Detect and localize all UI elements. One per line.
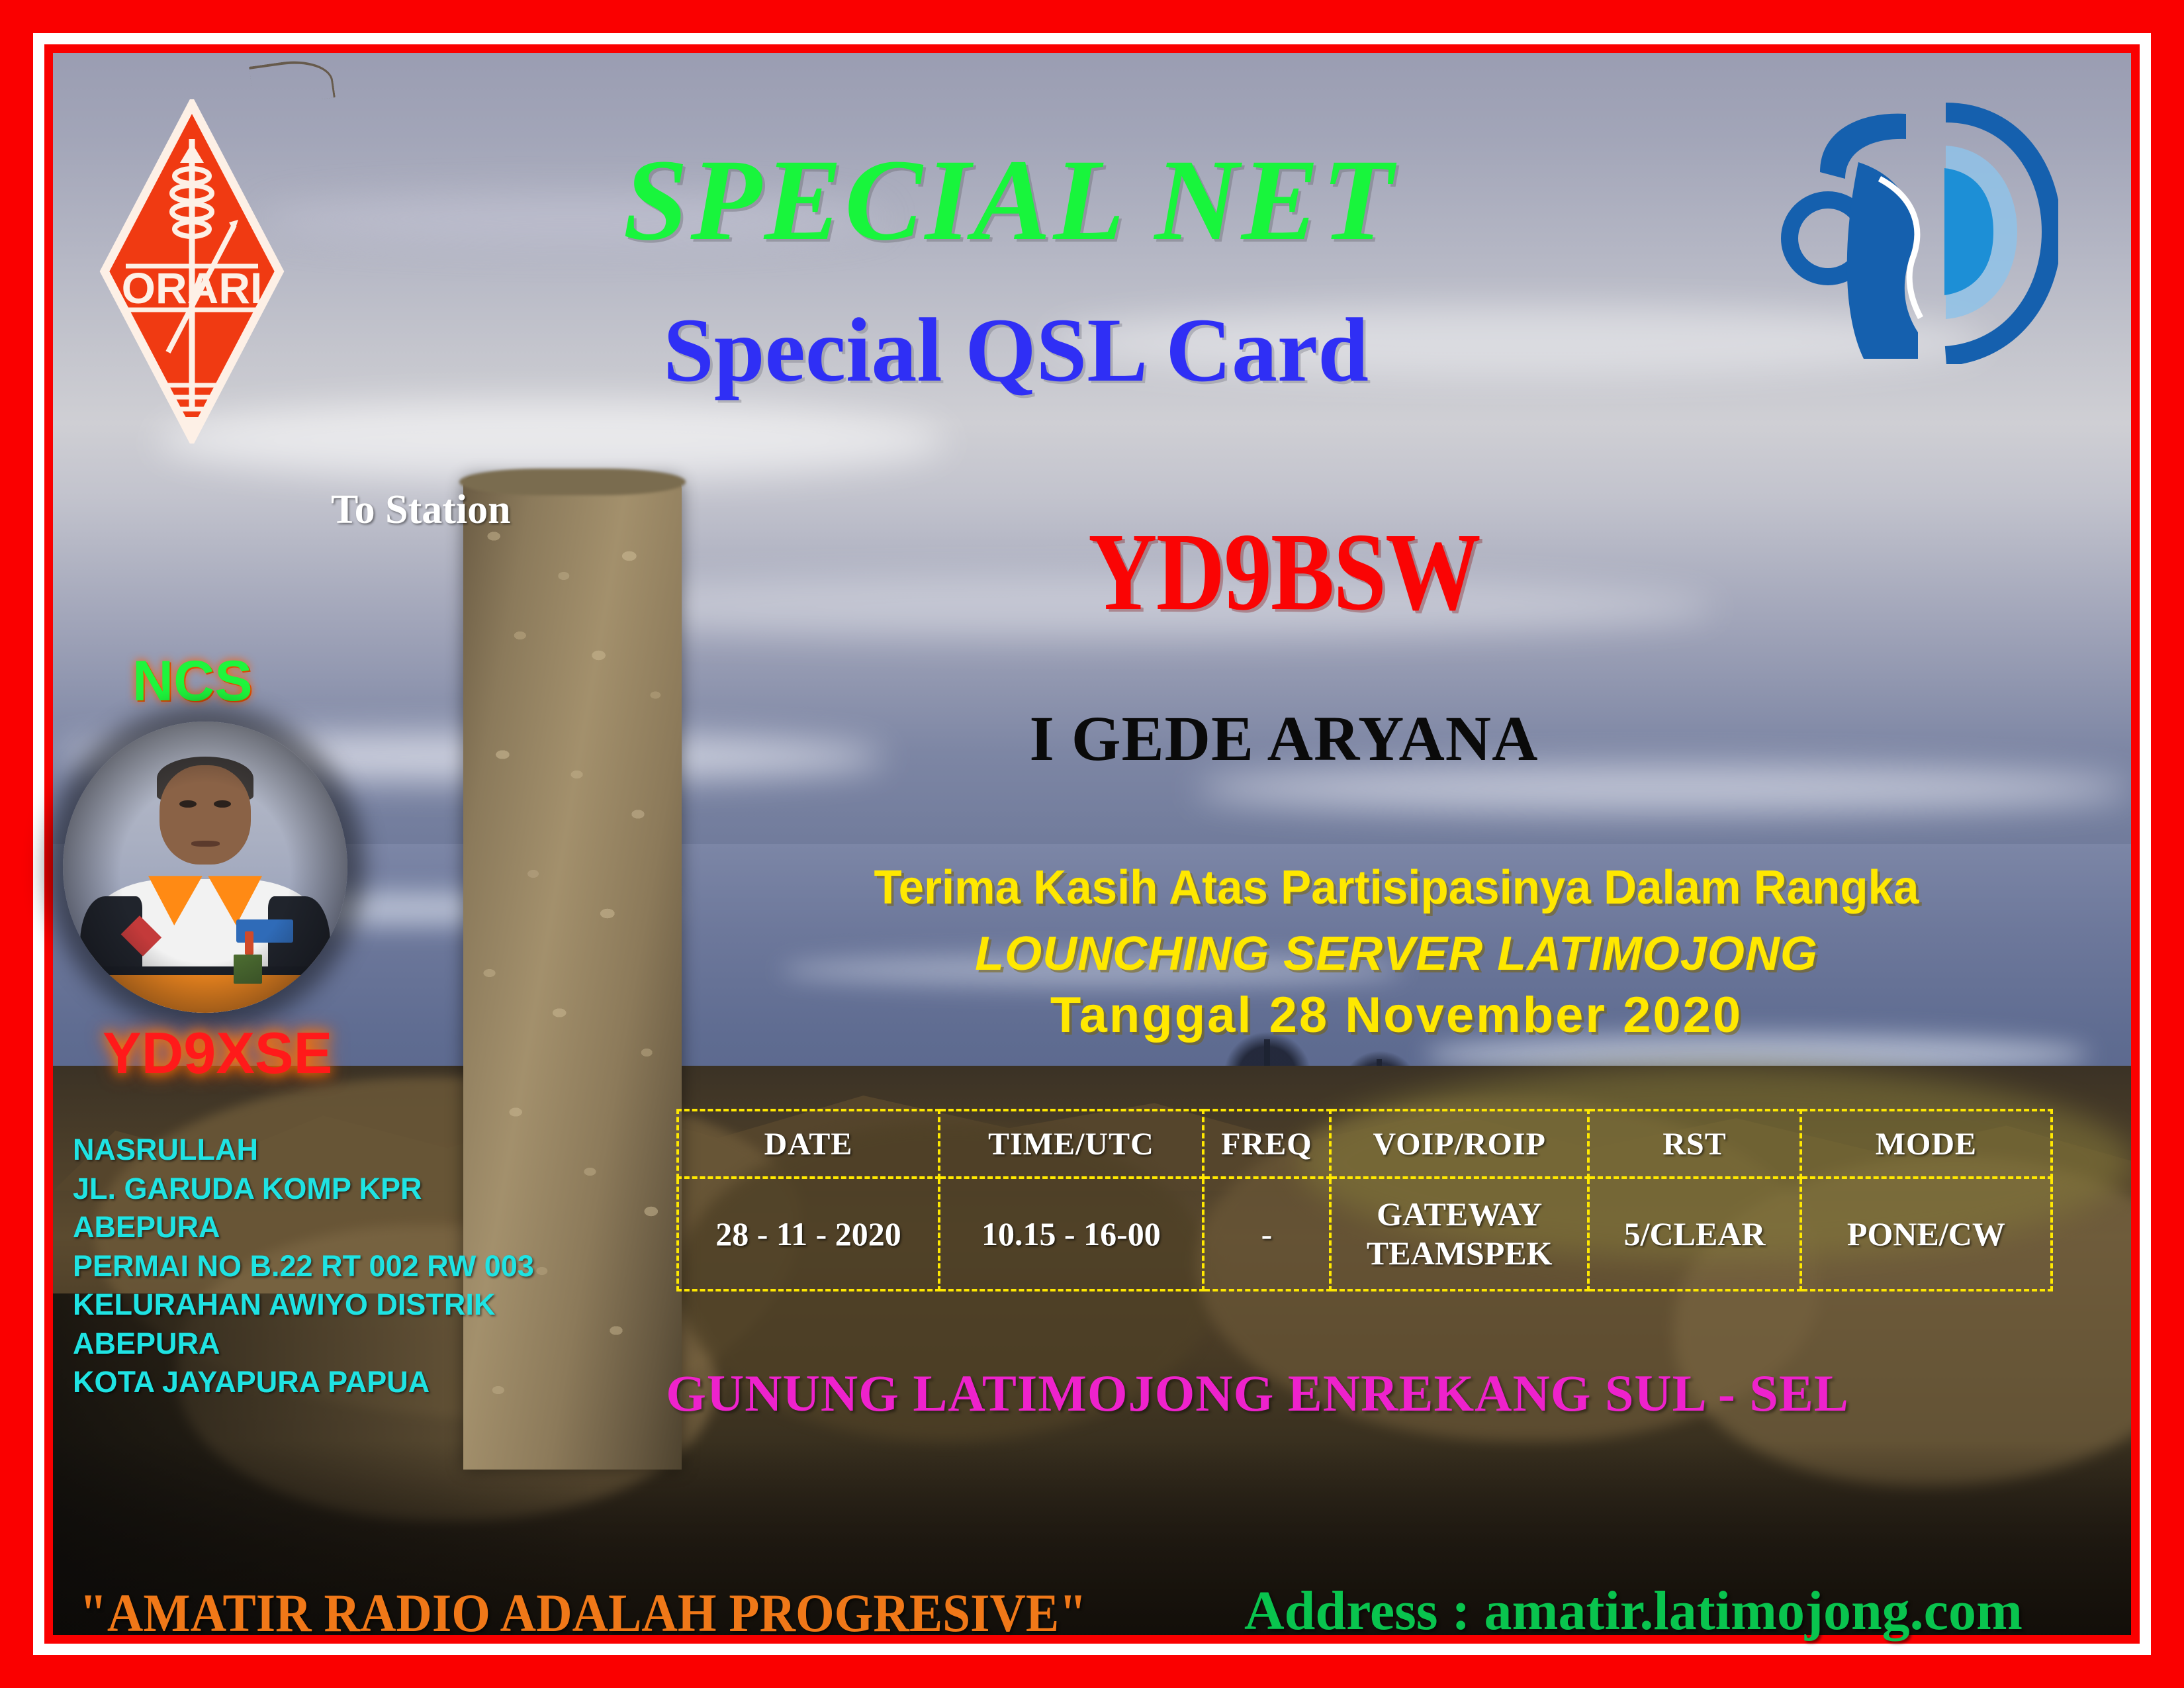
address-line: NASRULLAH bbox=[73, 1131, 534, 1170]
address-line: KELURAHAN AWIYO DISTRIK bbox=[73, 1286, 534, 1325]
address-line: ABEPURA bbox=[73, 1208, 534, 1247]
address-line: ABEPURA bbox=[73, 1325, 534, 1364]
operator-name: I GEDE ARYANA bbox=[887, 702, 1681, 775]
page-title-special-net: SPECIAL NET bbox=[0, 142, 2184, 259]
qso-cell-date: 28 - 11 - 2020 bbox=[678, 1178, 939, 1290]
page-title-special-net-text: SPECIAL NET bbox=[623, 142, 1395, 259]
event-location-line: GUNUNG LATIMOJONG ENREKANG SUL - SEL bbox=[596, 1364, 1919, 1423]
ncs-callsign: YD9XSE bbox=[103, 1019, 332, 1087]
qso-header-rst: RST bbox=[1588, 1110, 1800, 1178]
page-subtitle-qsl-card: Special QSL Card bbox=[0, 305, 2184, 396]
qso-header-mode: MODE bbox=[1801, 1110, 2052, 1178]
portrait-vignette bbox=[63, 722, 347, 1013]
qso-log-table: DATE TIME/UTC FREQ VOIP/ROIP RST MODE 28… bbox=[676, 1109, 2053, 1291]
qso-cell-rst: 5/CLEAR bbox=[1588, 1178, 1800, 1290]
qso-cell-voip-line1: GATEWAY bbox=[1332, 1195, 1587, 1234]
qso-cell-voip: GATEWAY TEAMSPEK bbox=[1330, 1178, 1588, 1290]
qso-table-header-row: DATE TIME/UTC FREQ VOIP/ROIP RST MODE bbox=[678, 1110, 2052, 1178]
ncs-label: NCS bbox=[132, 649, 253, 714]
address-line: KOTA JAYAPURA PAPUA bbox=[73, 1363, 534, 1402]
event-launch-line: LOUNCHING SERVER LATIMOJONG bbox=[715, 927, 2078, 981]
qso-header-freq: FREQ bbox=[1203, 1110, 1330, 1178]
to-station-label: To Station bbox=[331, 487, 511, 534]
address-line: PERMAI NO B.22 RT 002 RW 003 bbox=[73, 1247, 534, 1286]
station-callsign: YD9BSW bbox=[893, 516, 1674, 628]
qso-header-time: TIME/UTC bbox=[939, 1110, 1203, 1178]
qso-cell-mode: PONE/CW bbox=[1801, 1178, 2052, 1290]
address-line: JL. GARUDA KOMP KPR bbox=[73, 1170, 534, 1209]
qso-cell-freq: - bbox=[1203, 1178, 1330, 1290]
footer-address: Address : amatir.latimojong.com bbox=[1244, 1579, 2023, 1643]
qso-table-row: 28 - 11 - 2020 10.15 - 16-00 - GATEWAY T… bbox=[678, 1178, 2052, 1290]
ncs-address-block: NASRULLAH JL. GARUDA KOMP KPR ABEPURA PE… bbox=[73, 1131, 534, 1402]
event-thanks-line: Terima Kasih Atas Partisipasinya Dalam R… bbox=[742, 861, 2051, 915]
qso-header-date: DATE bbox=[678, 1110, 939, 1178]
ncs-operator-portrait bbox=[63, 722, 347, 1013]
qso-cell-time: 10.15 - 16-00 bbox=[939, 1178, 1203, 1290]
qsl-card: ORARI SPECIAL NET Special QSL Card To St… bbox=[0, 0, 2184, 1688]
event-date-line: Tanggal 28 November 2020 bbox=[715, 986, 2078, 1044]
page-subtitle-qsl-card-text: Special QSL Card bbox=[663, 305, 1369, 396]
qso-cell-voip-line2: TEAMSPEK bbox=[1332, 1234, 1587, 1273]
station-callsign-text: YD9BSW bbox=[1088, 516, 1480, 628]
footer-motto: "AMATIR RADIO ADALAH PROGRESIVE" bbox=[79, 1582, 1087, 1644]
qso-header-voip: VOIP/ROIP bbox=[1330, 1110, 1588, 1178]
